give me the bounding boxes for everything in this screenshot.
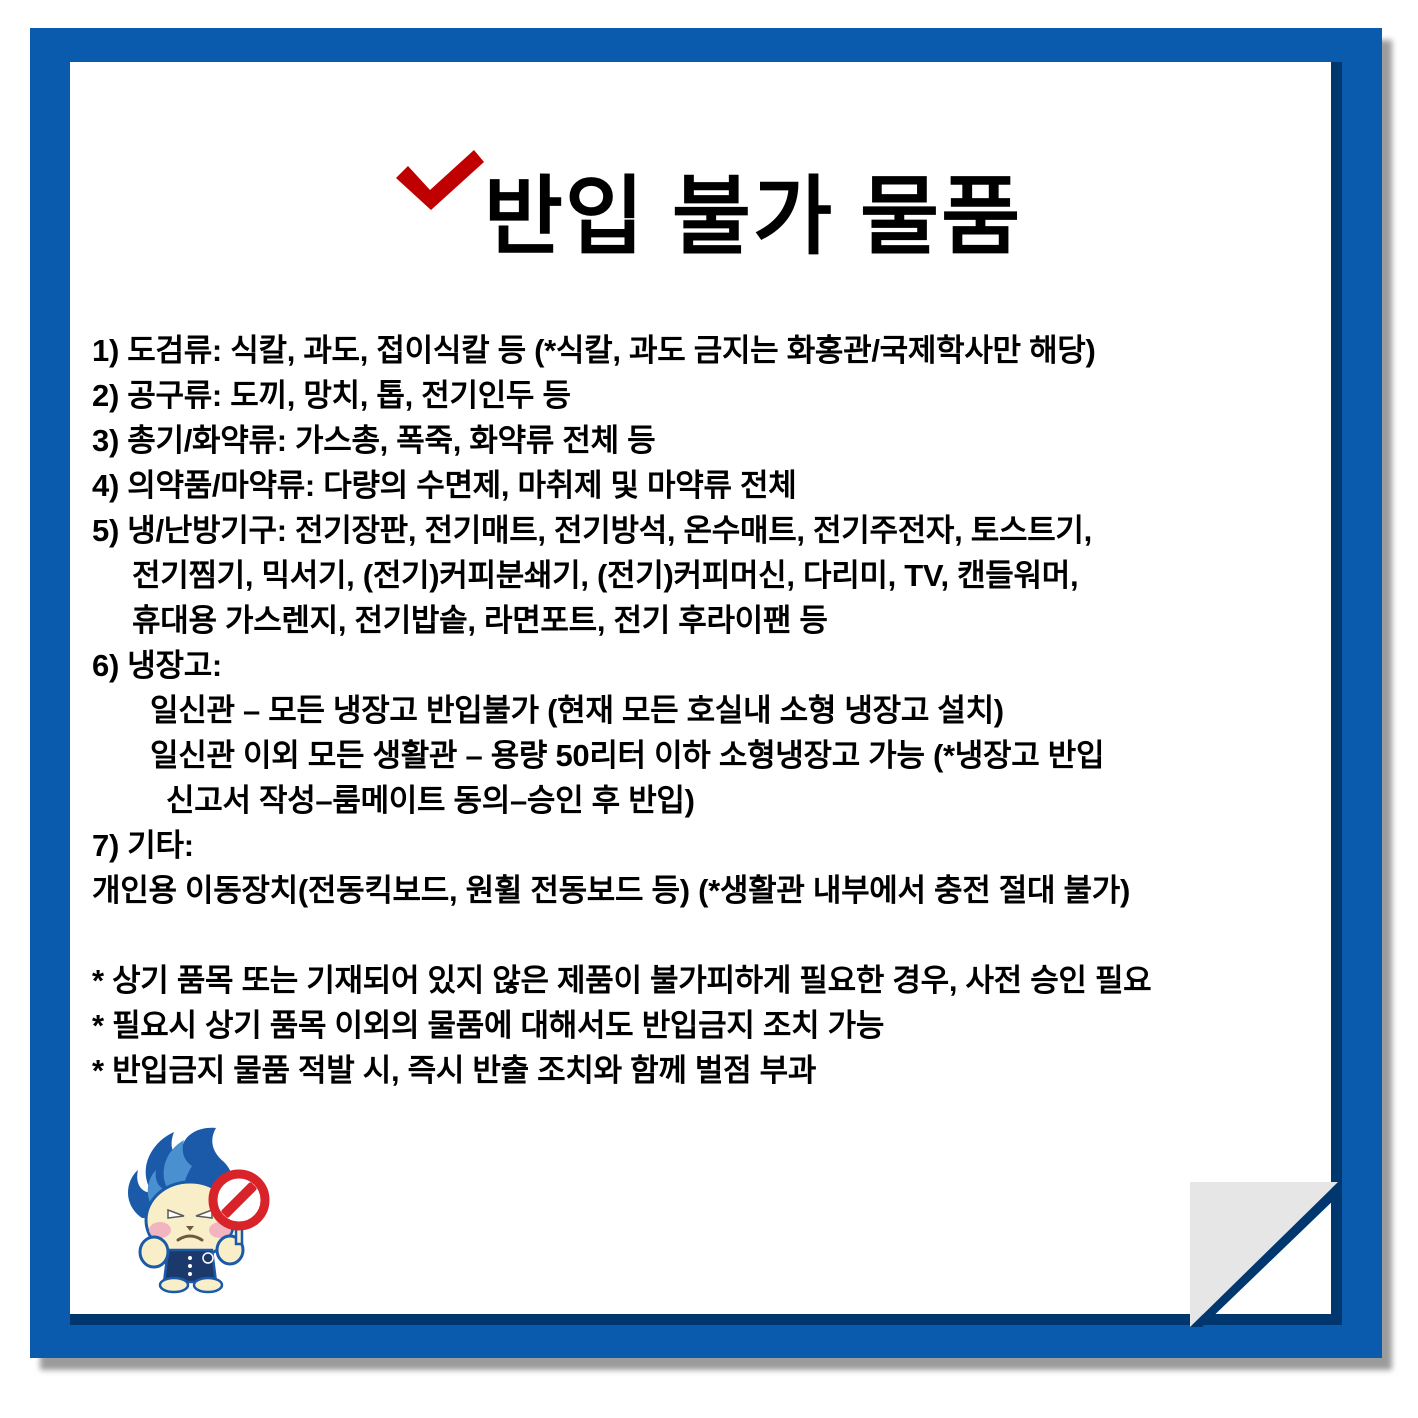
list-item-cont: 일신관 이외 모든 생활관 – 용량 50리터 이하 소형냉장고 가능 (*냉장… [92,733,1332,778]
list-item-cont: 일신관 – 모든 냉장고 반입불가 (현재 모든 호실내 소형 냉장고 설치) [92,688,1332,733]
list-item: 6) 냉장고: [92,643,1332,688]
prohibition-sign-icon [213,1174,265,1226]
poster-header: 반입 불가 물품 [70,140,1342,310]
list-item: 1) 도검류: 식칼, 과도, 접이식칼 등 (*식칼, 과도 금지는 화홍관/… [92,328,1332,373]
list-item: 5) 냉/난방기구: 전기장판, 전기매트, 전기방석, 온수매트, 전기주전자… [92,508,1332,553]
page-title: 반입 불가 물품 [484,172,1023,262]
list-item: 2) 공구류: 도끼, 망치, 톱, 전기인두 등 [92,373,1332,418]
mascot-foot-left [160,1278,188,1292]
card-bevel-bottom [70,1314,1342,1325]
prohibited-items-list: 1) 도검류: 식칼, 과도, 접이식칼 등 (*식칼, 과도 금지는 화홍관/… [92,328,1332,1093]
list-item: 7) 기타: [92,823,1332,868]
poster-page: 반입 불가 물품 1) 도검류: 식칼, 과도, 접이식칼 등 (*식칼, 과도… [0,0,1418,1418]
list-item: 3) 총기/화약류: 가스총, 폭죽, 화약류 전체 등 [92,418,1332,463]
mascot-foot-right [194,1278,222,1292]
list-notes-spacer [92,913,1332,958]
list-item-cont: 휴대용 가스렌지, 전기밥솥, 라면포트, 전기 후라이팬 등 [92,598,1332,643]
list-item-cont: 신고서 작성–룸메이트 동의–승인 후 반입) [92,778,1332,823]
mascot-fist-left [140,1237,168,1267]
red-check-icon [390,148,490,220]
list-item: 4) 의약품/마약류: 다량의 수면제, 마취제 및 마약류 전체 [92,463,1332,508]
note-item: * 상기 품목 또는 기재되어 있지 않은 제품이 불가피하게 필요한 경우, … [92,958,1332,1003]
note-item: * 필요시 상기 품목 이외의 물품에 대해서도 반입금지 조치 가능 [92,1003,1332,1048]
page-fold-corner [1190,1182,1338,1327]
list-item-cont: 전기찜기, 믹서기, (전기)커피분쇄기, (전기)커피머신, 다리미, TV,… [92,553,1332,598]
dormitory-mascot [112,1122,292,1302]
list-item: 개인용 이동장치(전동킥보드, 원휠 전동보드 등) (*생활관 내부에서 충전… [92,868,1332,913]
note-item: * 반입금지 물품 적발 시, 즉시 반출 조치와 함께 벌점 부과 [92,1048,1332,1093]
